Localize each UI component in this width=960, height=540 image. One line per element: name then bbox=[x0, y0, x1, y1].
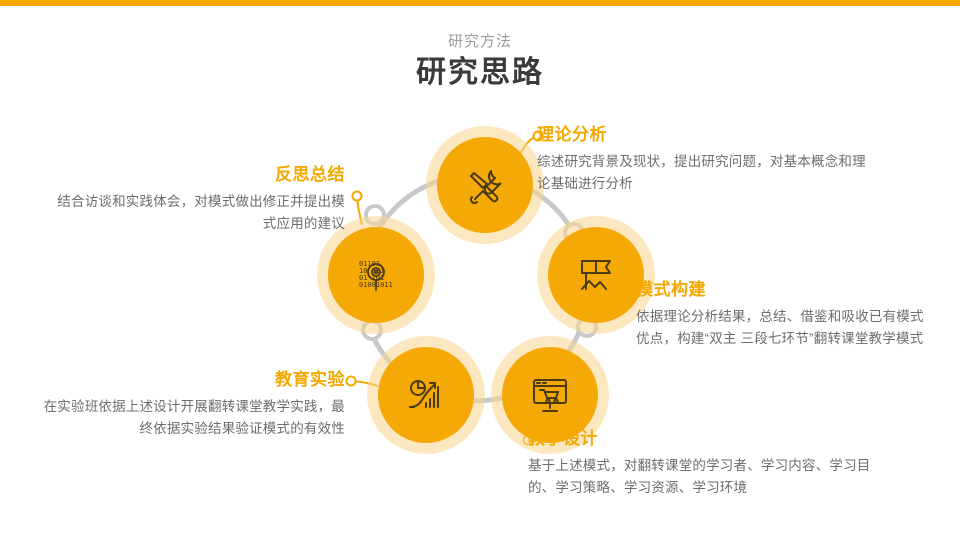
cycle-diagram: 01101 10 001 01 101 01001011 理论分析 综述研究背景… bbox=[0, 0, 960, 540]
label-step-5-body: 结合访谈和实践体会，对模式做出修正并提出模式应用的建议 bbox=[45, 191, 345, 235]
flag-mountain-icon bbox=[572, 251, 620, 299]
ring-arrow-node-4 bbox=[363, 321, 381, 339]
label-step-4-body: 在实验班依据上述设计开展翻转课堂教学实践，最终依据实验结果验证模式的有效性 bbox=[30, 396, 345, 440]
label-step-3-title: 教学设计 bbox=[528, 427, 878, 451]
cycle-node-step-1[interactable] bbox=[437, 137, 533, 233]
monitor-cart-icon bbox=[526, 371, 574, 419]
leader-line-step-4 bbox=[347, 377, 379, 387]
label-step-4-title: 教育实验 bbox=[30, 368, 345, 392]
ring-arrow-node-5 bbox=[366, 206, 384, 224]
magnifier-binary-icon: 01101 10 001 01 101 01001011 bbox=[352, 251, 400, 299]
label-step-2-body: 依据理论分析结果，总结、借鉴和吸收已有模式优点，构建“双主 三段七环节”翻转课堂… bbox=[636, 306, 936, 350]
cycle-node-step-5[interactable]: 01101 10 001 01 101 01001011 bbox=[328, 227, 424, 323]
label-step-5: 反思总结 结合访谈和实践体会，对模式做出修正并提出模式应用的建议 bbox=[45, 163, 345, 235]
cycle-node-step-4[interactable] bbox=[378, 347, 474, 443]
label-step-3: 教学设计 基于上述模式，对翻转课堂的学习者、学习内容、学习目的、学习策略、学习资… bbox=[528, 427, 878, 499]
label-step-1-body: 综述研究背景及现状，提出研究问题，对基本概念和理论基础进行分析 bbox=[537, 151, 867, 195]
chart-growth-pie-icon bbox=[402, 371, 450, 419]
label-step-2-title: 模式构建 bbox=[636, 278, 936, 302]
label-step-1-title: 理论分析 bbox=[537, 123, 867, 147]
label-step-1: 理论分析 综述研究背景及现状，提出研究问题，对基本概念和理论基础进行分析 bbox=[537, 123, 867, 195]
cycle-node-step-2[interactable] bbox=[548, 227, 644, 323]
tools-wrench-screwdriver-icon bbox=[461, 161, 509, 209]
leader-line-step-5 bbox=[353, 192, 363, 226]
label-step-4: 教育实验 在实验班依据上述设计开展翻转课堂教学实践，最终依据实验结果验证模式的有… bbox=[30, 368, 345, 440]
label-step-5-title: 反思总结 bbox=[45, 163, 345, 187]
label-step-3-body: 基于上述模式，对翻转课堂的学习者、学习内容、学习目的、学习策略、学习资源、学习环… bbox=[528, 455, 878, 499]
label-step-2: 模式构建 依据理论分析结果，总结、借鉴和吸收已有模式优点，构建“双主 三段七环节… bbox=[636, 278, 936, 350]
